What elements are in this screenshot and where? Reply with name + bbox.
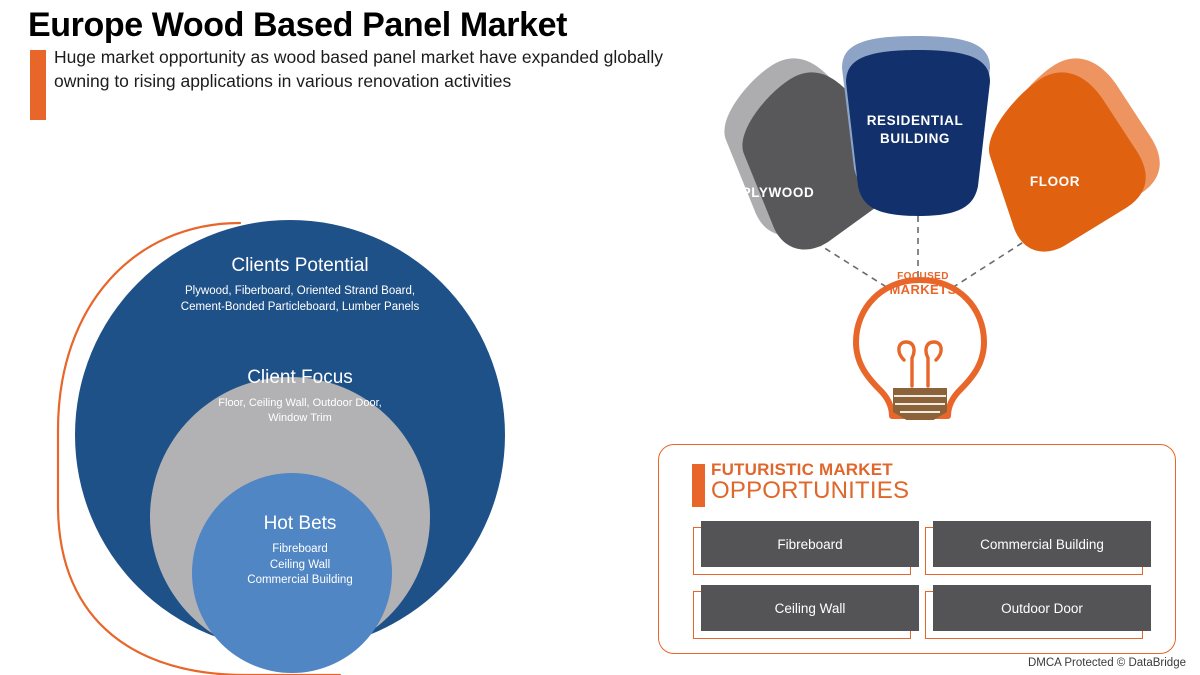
opportunities-card-grid: Fibreboard Commercial Building Ceiling W…	[693, 521, 1143, 633]
opportunity-card-wrap: Outdoor Door	[925, 585, 1143, 633]
lightbulb-icon	[856, 280, 984, 420]
opportunity-card-wrap: Ceiling Wall	[693, 585, 911, 633]
header: Europe Wood Based Panel Market Huge mark…	[0, 0, 700, 150]
opportunities-title: FUTURISTIC MARKET OPPORTUNITIES	[711, 461, 909, 504]
opportunities-title-line2: OPPORTUNITIES	[711, 478, 909, 504]
page-title: Europe Wood Based Panel Market	[28, 6, 567, 45]
opportunity-card-wrap: Fibreboard	[693, 521, 911, 569]
opportunity-card[interactable]: Outdoor Door	[933, 585, 1151, 631]
opportunity-card[interactable]: Commercial Building	[933, 521, 1151, 567]
focused-markets-svg	[660, 20, 1190, 420]
subtitle-text: Huge market opportunity as wood based pa…	[54, 46, 664, 93]
bulb-filament	[899, 342, 941, 386]
futuristic-market-opportunities-panel: FUTURISTIC MARKET OPPORTUNITIES Fibreboa…	[658, 444, 1176, 654]
opportunity-card-wrap: Commercial Building	[925, 521, 1143, 569]
blob-residential	[846, 50, 990, 216]
circle-hot-bets	[192, 473, 392, 673]
opportunities-title-line1: FUTURISTIC MARKET	[711, 461, 909, 478]
subtitle-accent-bar	[30, 50, 46, 120]
opportunities-accent-bar	[692, 464, 705, 507]
opportunity-card[interactable]: Ceiling Wall	[701, 585, 919, 631]
clients-potential-diagram: Clients Potential Plywood, Fiberboard, O…	[40, 205, 560, 675]
concentric-circles-svg	[40, 205, 560, 675]
opportunity-card[interactable]: Fibreboard	[701, 521, 919, 567]
infographic-root: Europe Wood Based Panel Market Huge mark…	[0, 0, 1200, 675]
footer-copyright: DMCA Protected © DataBridge	[1028, 657, 1186, 669]
focused-markets-diagram: PLYWOOD RESIDENTIAL BUILDING FLOOR FOCUS…	[660, 20, 1190, 420]
